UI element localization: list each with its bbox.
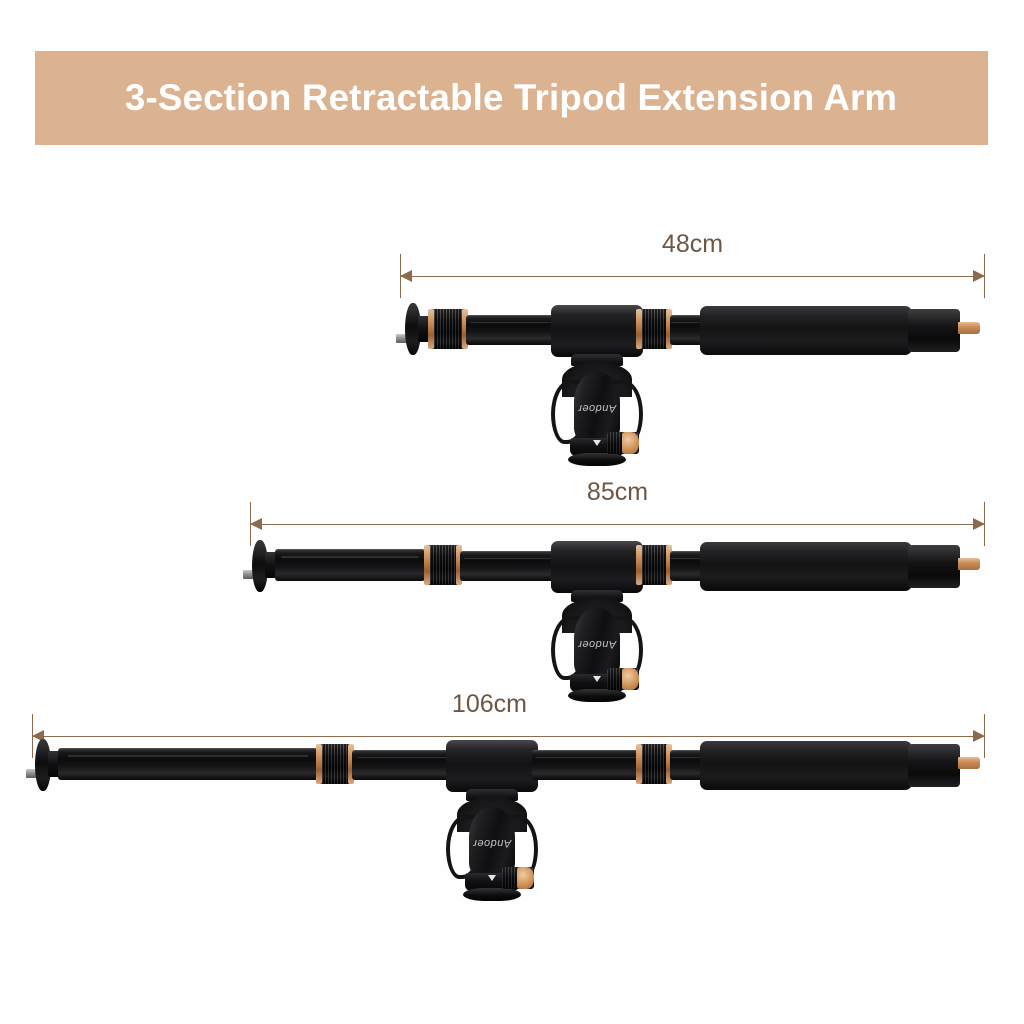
twist-lock-collar-1 [316, 744, 354, 784]
mid-tube-section [532, 750, 642, 780]
product-infographic: 3-Section Retractable Tripod Extension A… [0, 0, 1024, 1024]
ball-head: Andoer [440, 789, 544, 903]
grip-tube-section [670, 750, 704, 780]
head-clamp-block [446, 740, 538, 792]
twist-lock-collar-2 [636, 744, 672, 784]
head-foot-disc [463, 888, 521, 901]
index-pointer-icon [488, 875, 496, 881]
foam-grip [700, 741, 912, 790]
knob-copper-cap [517, 867, 534, 889]
lock-knob [502, 867, 534, 889]
product-unit-106cm: Andoer [0, 0, 1024, 1024]
brand-logo: Andoer [473, 837, 511, 849]
copper-tip [958, 757, 980, 769]
copper-ring-left [636, 744, 642, 784]
outer-tube-section [58, 748, 318, 780]
copper-ring-left [316, 744, 322, 784]
end-cap [908, 744, 960, 787]
